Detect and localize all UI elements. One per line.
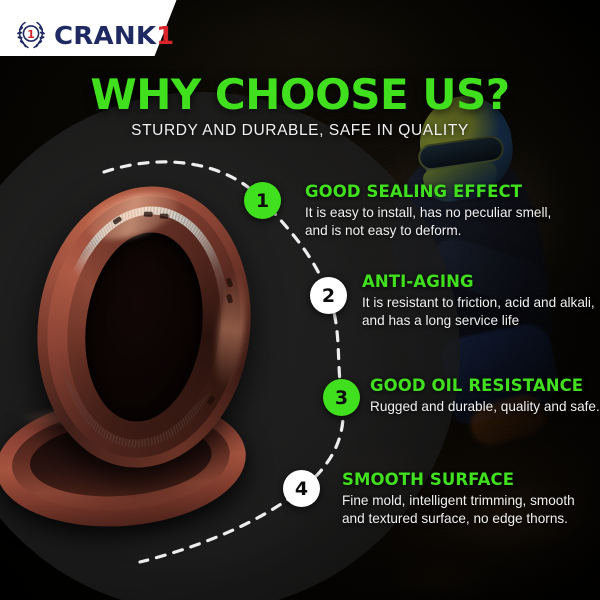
feature-title-2: ANTI-AGING — [362, 272, 600, 291]
feature-badge-3: 3 — [323, 379, 360, 416]
feature-body-2: It is resistant to friction, acid and al… — [362, 294, 600, 330]
infographic-canvas: 1 CRANK1 WHY CHOOSE US? STURDY AND DURAB… — [0, 0, 600, 600]
feature-badge-1: 1 — [244, 182, 281, 219]
feature-badge-4: 4 — [283, 470, 320, 507]
feature-title-1: GOOD SEALING EFFECT — [305, 182, 570, 201]
feature-title-3: GOOD OIL RESISTANCE — [370, 376, 600, 395]
feature-item-4: SMOOTH SURFACE Fine mold, intelligent tr… — [342, 470, 600, 528]
feature-item-1: GOOD SEALING EFFECT It is easy to instal… — [305, 182, 570, 240]
feature-item-3: GOOD OIL RESISTANCE Rugged and durable, … — [370, 376, 600, 416]
feature-body-4: Fine mold, intelligent trimming, smooth … — [342, 492, 600, 528]
feature-body-1: It is easy to install, has no peculiar s… — [305, 204, 570, 240]
feature-item-2: ANTI-AGING It is resistant to friction, … — [362, 272, 600, 330]
feature-title-4: SMOOTH SURFACE — [342, 470, 600, 489]
feature-badge-2: 2 — [310, 277, 347, 314]
feature-body-3: Rugged and durable, quality and safe. — [370, 398, 600, 416]
